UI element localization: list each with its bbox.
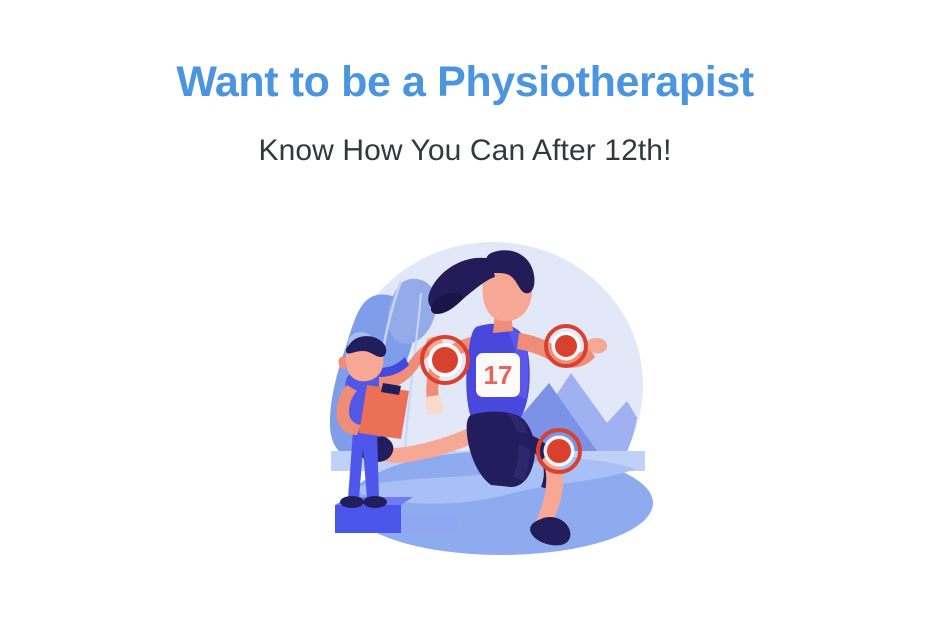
bib-number: 17 <box>484 360 513 390</box>
coach-shoe-right <box>363 496 387 508</box>
knee-pain-marker <box>538 430 580 472</box>
page-title: Want to be a Physiotherapist <box>0 58 930 107</box>
coach-shoe-left <box>340 496 364 508</box>
right-elbow-pain-marker <box>546 326 586 366</box>
page-subtitle: Know How You Can After 12th! <box>0 107 930 169</box>
marker-core <box>432 347 458 373</box>
runner-bib-group: 17 <box>476 353 520 397</box>
illustration-canvas: 17 <box>305 235 665 565</box>
podium-step <box>401 515 457 531</box>
clipboard-body <box>359 385 409 439</box>
left-elbow-pain-marker <box>422 337 468 383</box>
marker-core <box>547 439 571 463</box>
podium-front <box>335 505 401 533</box>
marker-core <box>555 335 577 357</box>
physiotherapy-runner-illustration: 17 <box>305 235 665 565</box>
promo-banner: Want to be a Physiotherapist Know How Yo… <box>0 0 930 620</box>
headline-block: Want to be a Physiotherapist Know How Yo… <box>0 58 930 169</box>
